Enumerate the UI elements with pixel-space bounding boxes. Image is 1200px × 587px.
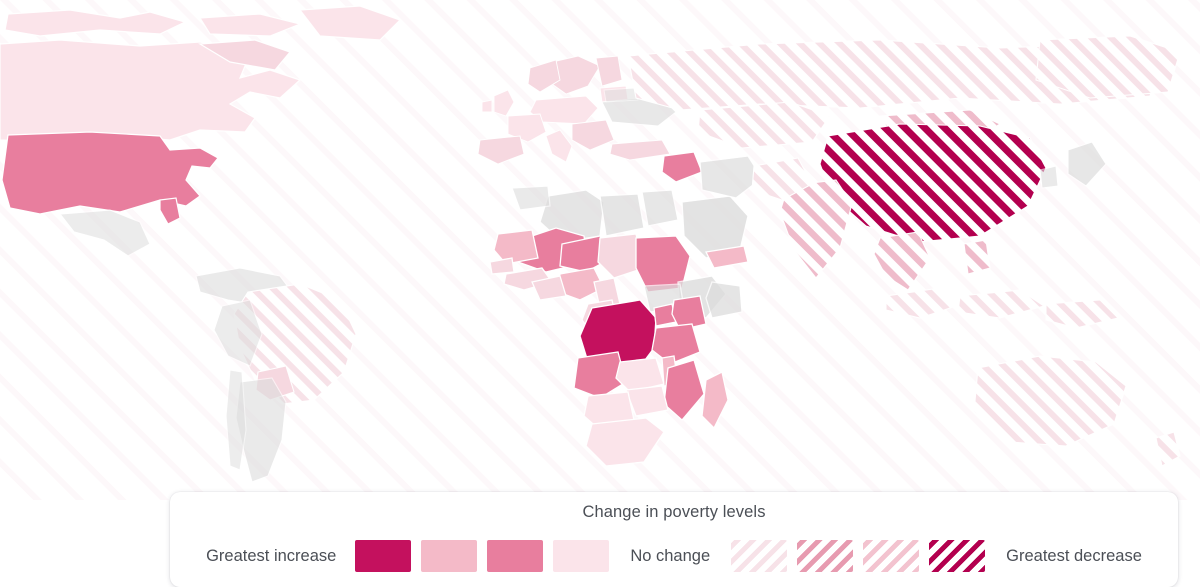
country-ireland[interactable] xyxy=(482,100,492,112)
legend-swatch-decrease-3[interactable] xyxy=(863,540,919,572)
country-philippines[interactable] xyxy=(964,240,990,274)
legend-swatch-decrease-1[interactable] xyxy=(731,540,787,572)
legend-panel: Change in poverty levels Greatest increa… xyxy=(170,492,1178,587)
legend-swatch-increase-2[interactable] xyxy=(487,540,543,572)
legend-swatch-increase-1[interactable] xyxy=(553,540,609,572)
country-egypt[interactable] xyxy=(642,190,678,226)
legend-title: Change in poverty levels xyxy=(170,503,1178,522)
country-korea[interactable] xyxy=(1040,166,1058,188)
country-belarus[interactable] xyxy=(604,88,638,102)
legend-swatch-increase-4[interactable] xyxy=(355,540,411,572)
country-libya[interactable] xyxy=(600,194,644,236)
legend-swatch-decrease-4[interactable] xyxy=(929,540,985,572)
legend-swatch-decrease-2[interactable] xyxy=(797,540,853,572)
legend-label-greatest-increase: Greatest increase xyxy=(206,548,336,565)
legend-label-greatest-decrease: Greatest decrease xyxy=(1006,548,1142,565)
map-visualization: Change in poverty levels Greatest increa… xyxy=(0,0,1200,587)
country-somalia[interactable] xyxy=(706,282,742,318)
legend-label-no-change: No change xyxy=(630,548,710,565)
legend-scale-row: Greatest increase No change Greatest dec… xyxy=(170,536,1178,576)
legend-swatch-increase-3[interactable] xyxy=(421,540,477,572)
